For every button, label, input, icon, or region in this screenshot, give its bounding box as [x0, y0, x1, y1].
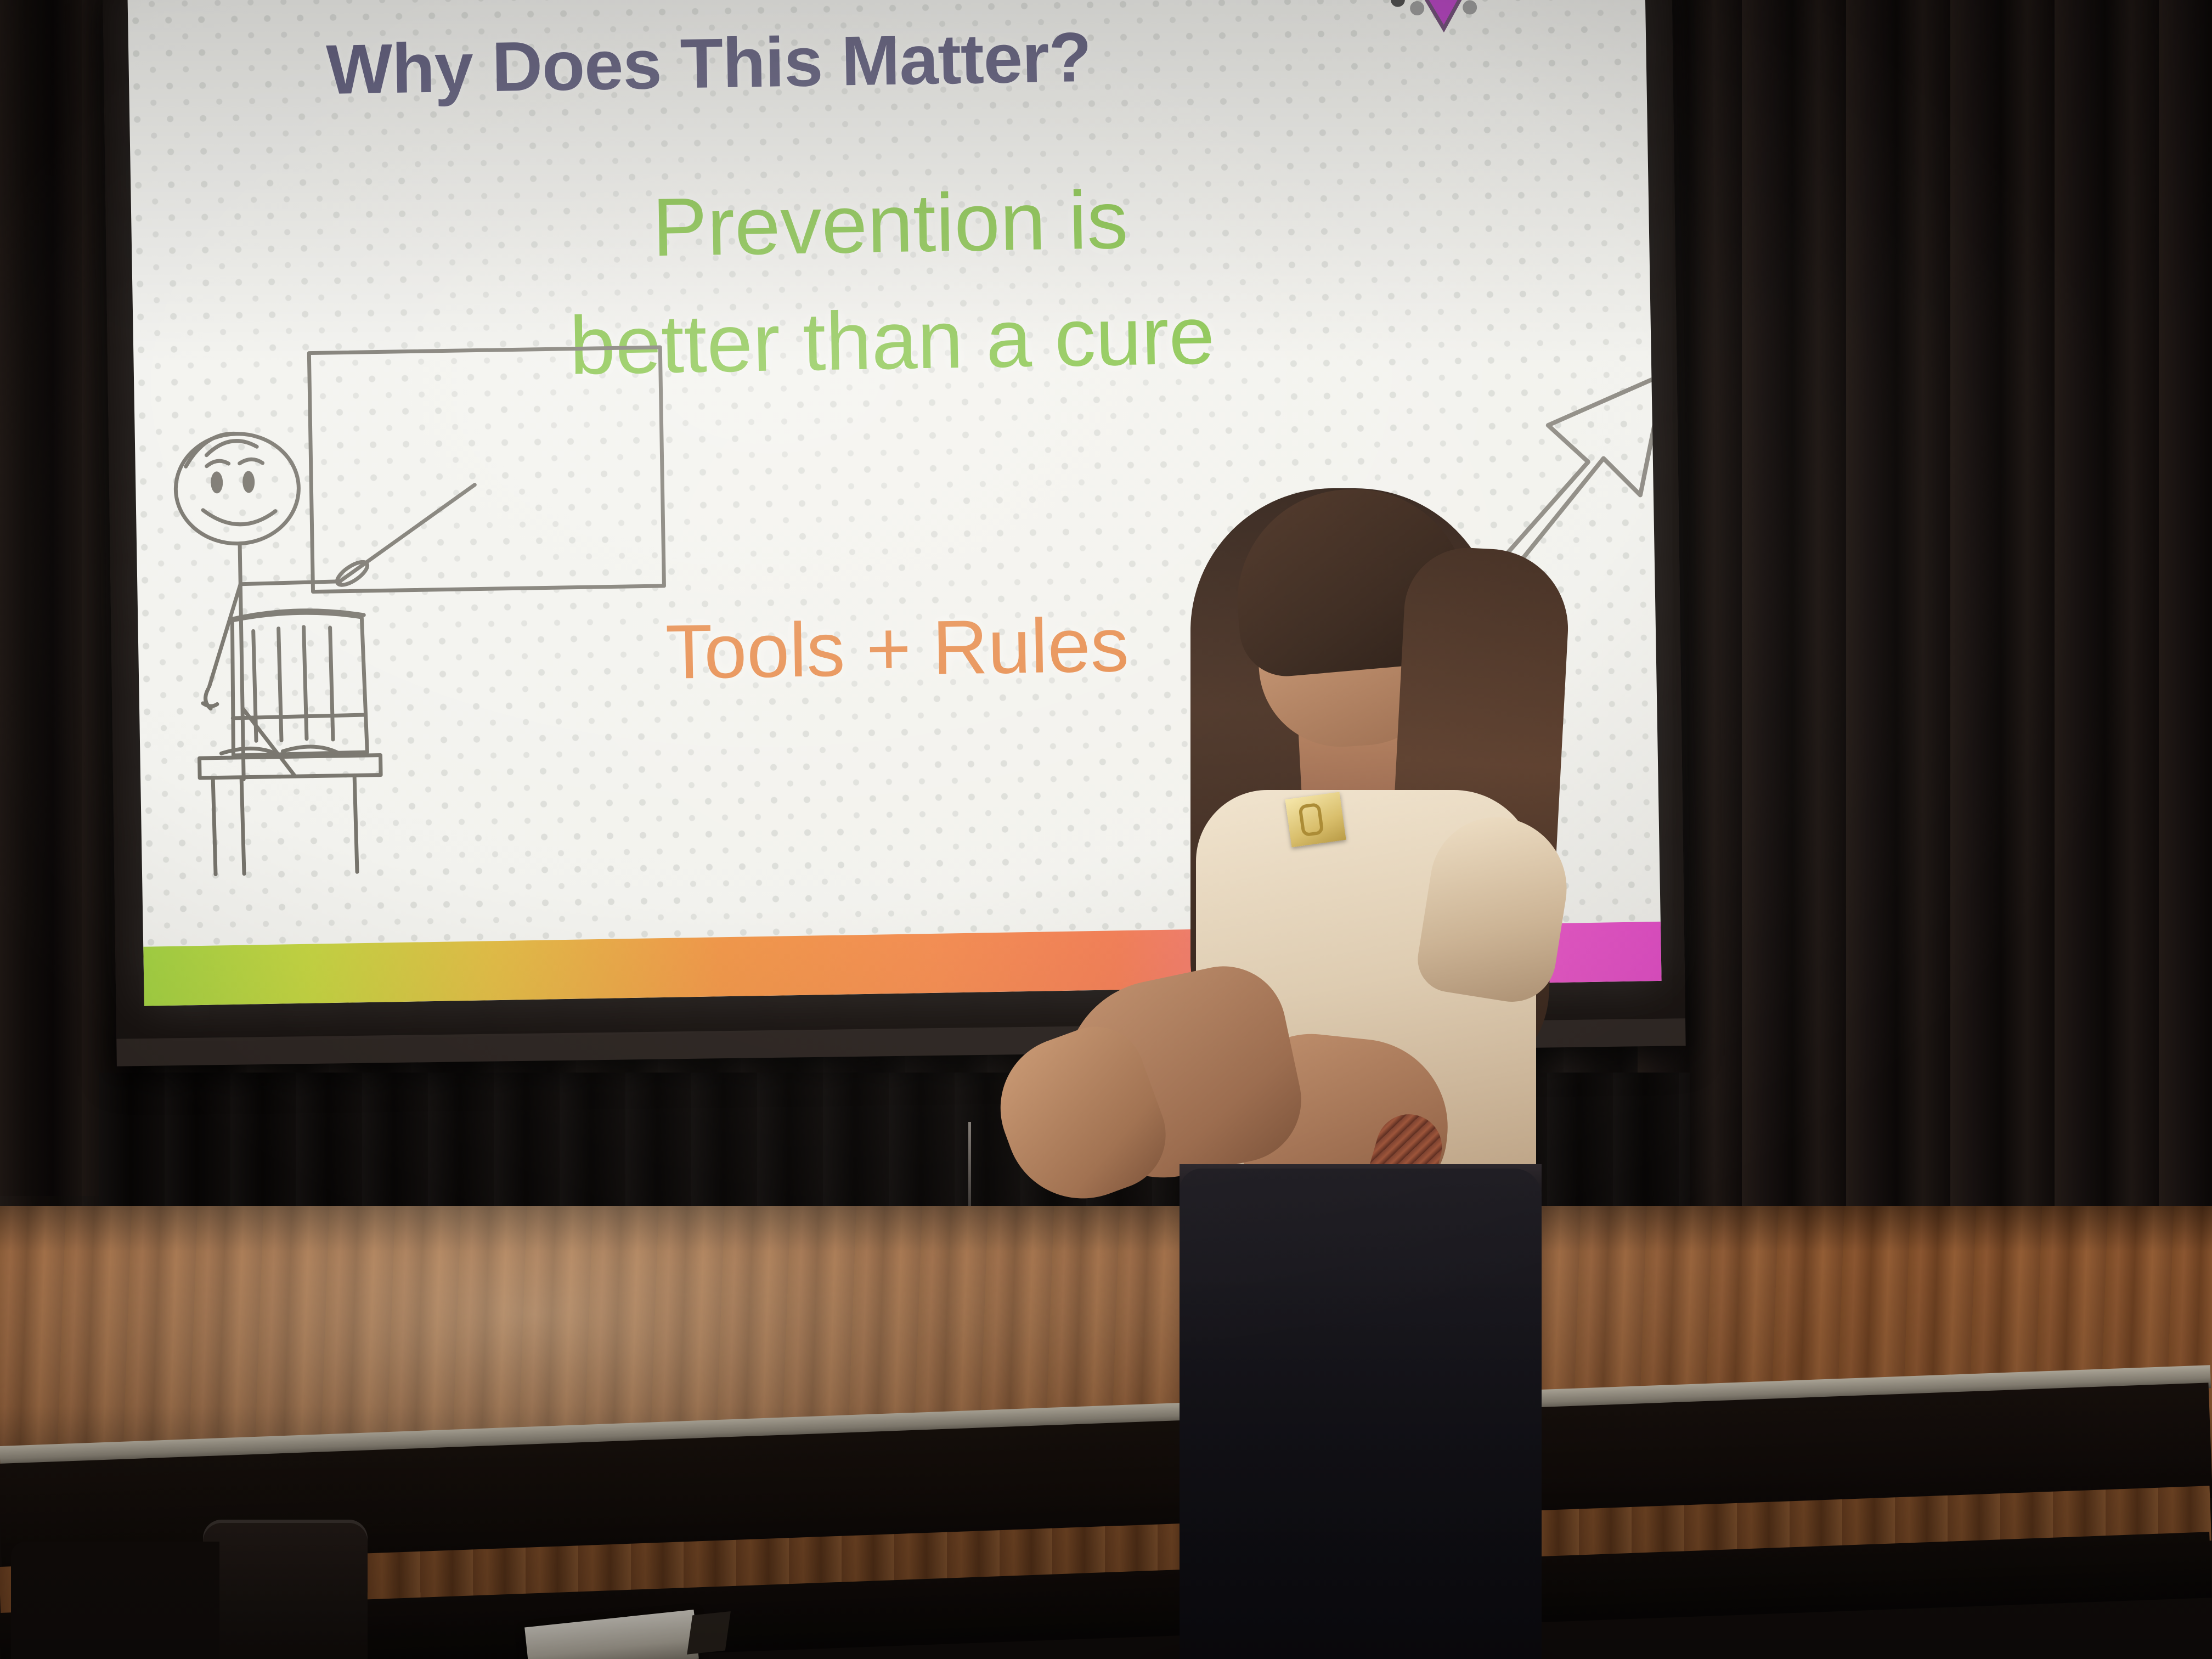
stage-curtain-right — [1638, 0, 2212, 1273]
slide-title: Why Does This Matter? — [326, 17, 1092, 110]
audience-chair — [203, 1520, 368, 1659]
presenter — [1042, 466, 1646, 1659]
whiteboard-shape — [309, 347, 664, 592]
presentation-photo-scene: Why Does This Matter? Prevention is bett… — [0, 0, 2212, 1659]
presenter-name-badge — [1285, 792, 1346, 847]
stick-figure-head — [175, 433, 300, 545]
map-pin-logo — [1361, 0, 1527, 55]
logo-pin-shape — [1415, 0, 1470, 29]
stick-figure-illustration — [144, 317, 718, 885]
presenter-skirt — [1180, 1169, 1542, 1659]
